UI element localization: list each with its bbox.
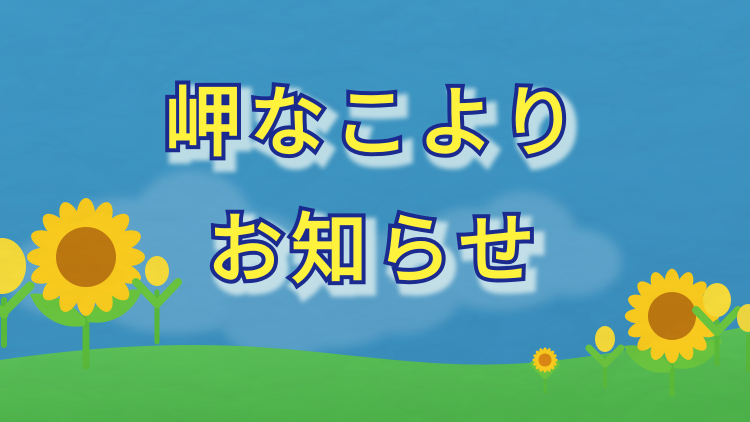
- title-card: 岬なこより 岬なこより 岬なこより お知らせ お知らせ お知らせ: [0, 0, 750, 422]
